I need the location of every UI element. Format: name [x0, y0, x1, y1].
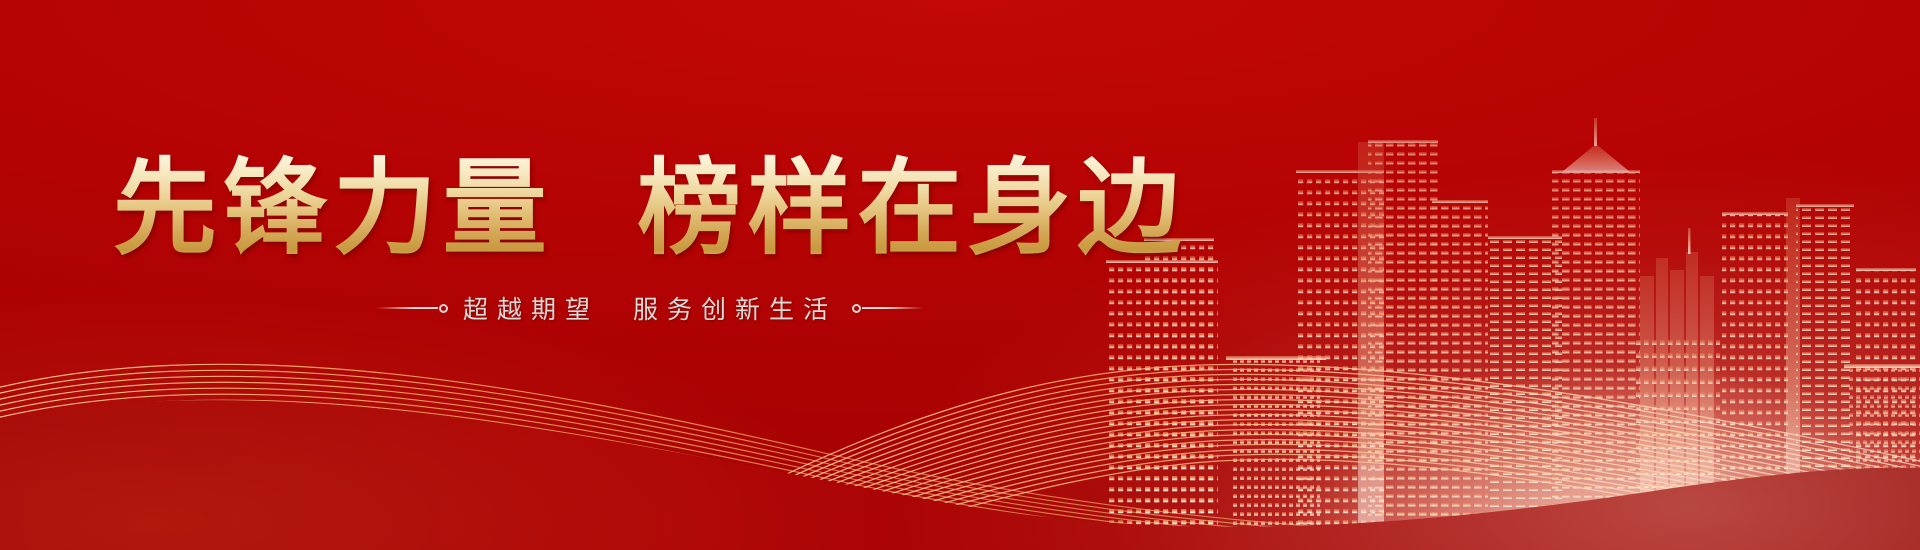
background-vignette: [0, 0, 1920, 550]
promotional-banner: 先锋力量 榜样在身边 超越期望 服务创新生活: [0, 0, 1920, 550]
